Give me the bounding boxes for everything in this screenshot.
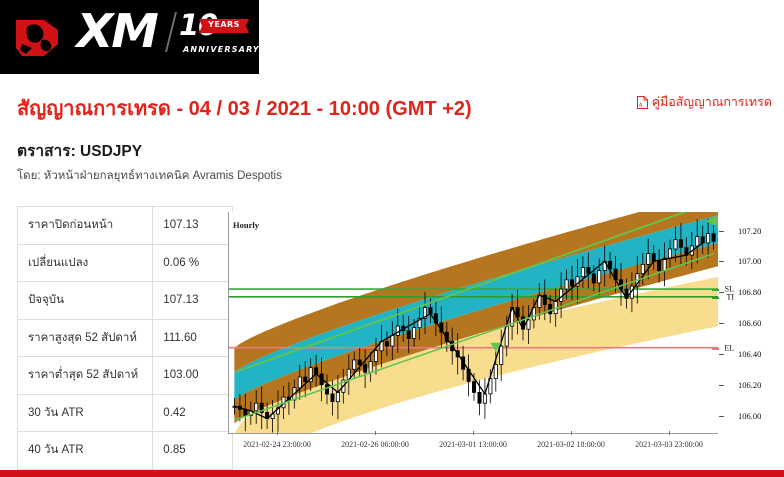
brand-logo: XM 10 YEARS ANNIVERSARY (14, 10, 250, 66)
chart-plot-area[interactable]: Hourly (228, 212, 718, 434)
row-label: 30 วัน ATR (18, 394, 153, 432)
table-row: เปลี่ยนแปลง 0.06 % (18, 244, 233, 282)
axis-tick (571, 431, 572, 435)
axis-tick (719, 231, 724, 232)
axis-tick (473, 431, 474, 435)
chart-canvas (229, 212, 718, 434)
axis-tick-label: 106.40 (738, 349, 761, 359)
axis-tick (719, 323, 724, 324)
row-value: 0.42 (153, 394, 233, 432)
axis-tick-label: 106.80 (738, 287, 761, 297)
row-label: ราคาสูงสุด 52 สัปดาห์ (18, 319, 153, 357)
axis-tick (669, 431, 670, 435)
anniversary-ribbon: YEARS (199, 19, 249, 33)
level-marker-dash (712, 297, 719, 299)
brand-logo-bar: XM 10 YEARS ANNIVERSARY (0, 0, 259, 74)
row-value: 111.60 (153, 319, 233, 357)
row-label: ปัจจุบัน (18, 282, 153, 320)
page-title: สัญญาณการเทรด - 04 / 03 / 2021 - 10:00 (… (17, 92, 472, 124)
row-value: 103.00 (153, 357, 233, 395)
axis-tick-label: 2021-03-02 18:00:00 (537, 440, 605, 449)
axis-tick-label: 106.20 (738, 380, 761, 390)
axis-tick (719, 261, 724, 262)
axis-tick (719, 416, 724, 417)
xm-wordmark: XM (76, 8, 156, 54)
svg-text:A: A (639, 102, 643, 108)
chart-timeframe-label: Hourly (233, 220, 259, 230)
axis-tick-label: 2021-02-24 23:00:00 (243, 440, 311, 449)
instrument-label: ตราสาร: USDJPY (17, 138, 142, 163)
price-chart-panel[interactable]: Hourly 107.20107.00106.80106.60106.40106… (228, 212, 773, 454)
row-label: ราคาต่ำสุด 52 สัปดาห์ (18, 357, 153, 395)
axis-tick (719, 354, 724, 355)
row-label: เปลี่ยนแปลง (18, 244, 153, 282)
table-row: 30 วัน ATR 0.42 (18, 394, 233, 432)
row-value: 107.13 (153, 282, 233, 320)
table-row: 40 วัน ATR 0.85 (18, 432, 233, 470)
level-marker-dash (712, 348, 719, 350)
axis-tick-label: 106.00 (738, 411, 761, 421)
trading-signals-guide-link[interactable]: A คู่มือสัญญาณการเทรด (637, 92, 772, 112)
level-marker-dash (712, 289, 719, 291)
axis-tick (277, 431, 278, 435)
level-marker-el: EL (724, 343, 734, 352)
instrument-stats-table: ราคาปิดก่อนหน้า 107.13 เปลี่ยนแปลง 0.06 … (17, 206, 233, 470)
row-value: 107.13 (153, 207, 233, 245)
row-label: 40 วัน ATR (18, 432, 153, 470)
axis-tick-label: 2021-03-01 13:00:00 (439, 440, 507, 449)
axis-tick-label: 2021-02-26 06:00:00 (341, 440, 409, 449)
axis-tick-label: 2021-03-03 23:00:00 (635, 440, 703, 449)
axis-tick-label: 107.20 (738, 226, 761, 236)
axis-tick (375, 431, 376, 435)
axis-tick-label: 107.00 (738, 256, 761, 266)
row-value: 0.06 % (153, 244, 233, 282)
anniversary-badge: 10 YEARS ANNIVERSARY (179, 10, 251, 64)
pdf-icon: A (637, 96, 648, 109)
table-row: ปัจจุบัน 107.13 (18, 282, 233, 320)
author-byline: โดย: หัวหน้าฝ่ายกลยุทธ์ทางเทคนิค Avramis… (17, 167, 282, 185)
table-row: ราคาสูงสุด 52 สัปดาห์ 111.60 (18, 319, 233, 357)
price-axis: 107.20107.00106.80106.60106.40106.20106.… (718, 212, 784, 435)
table-body: ราคาปิดก่อนหน้า 107.13 เปลี่ยนแปลง 0.06 … (18, 207, 233, 470)
axis-tick-label: 106.60 (738, 318, 761, 328)
xm-bull-icon (14, 14, 72, 58)
axis-tick (719, 292, 724, 293)
guide-link-label: คู่มือสัญญาณการเทรด (652, 92, 772, 112)
table-row: ราคาต่ำสุด 52 สัปดาห์ 103.00 (18, 357, 233, 395)
bottom-accent-bar (0, 470, 784, 477)
logo-divider (165, 12, 177, 52)
level-marker-ti: TI (726, 292, 734, 301)
row-label: ราคาปิดก่อนหน้า (18, 207, 153, 245)
row-value: 0.85 (153, 432, 233, 470)
axis-tick (719, 385, 724, 386)
anniversary-word: ANNIVERSARY (183, 45, 259, 54)
time-axis: 2021-02-24 23:00:002021-02-26 06:00:0020… (228, 435, 773, 453)
page-root: XM 10 YEARS ANNIVERSARY สัญญาณการเทรด - … (0, 0, 784, 477)
table-row: ราคาปิดก่อนหน้า 107.13 (18, 207, 233, 245)
anniversary-years-label: YEARS (199, 20, 249, 29)
